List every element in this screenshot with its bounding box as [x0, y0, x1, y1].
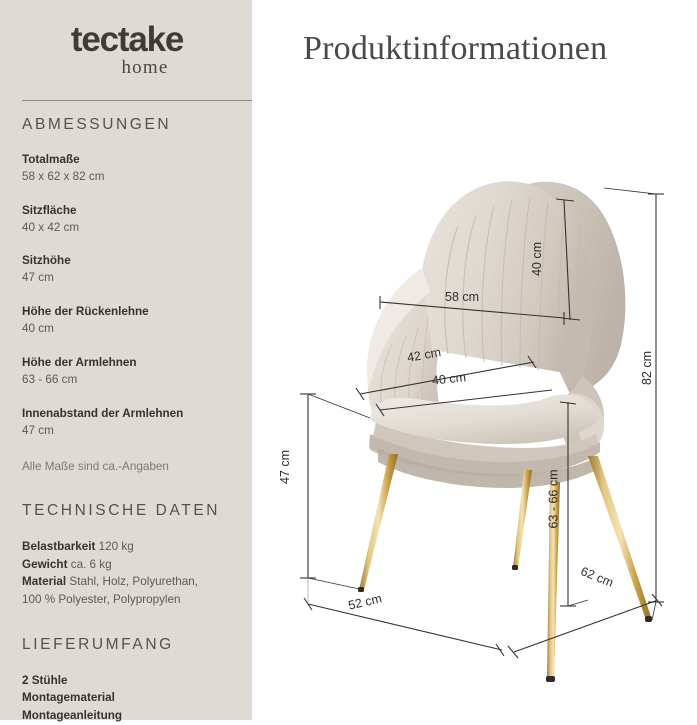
dimension-label-seat-height: 47 cm	[278, 450, 292, 484]
dimension-label: Totalmaße	[22, 152, 240, 169]
section-title-technische-daten: TECHNISCHE DATEN	[22, 502, 240, 521]
dimension-label: Höhe der Armlehnen	[22, 355, 240, 372]
list-item: Montagematerial	[22, 689, 240, 707]
dimension-label: Sitzfläche	[22, 203, 240, 220]
spec-row: Belastbarkeit 120 kg	[22, 538, 240, 556]
brand-sub: home	[58, 58, 232, 77]
measurement-note: Alle Maße sind ca.-Angaben	[22, 459, 240, 476]
dimension-label-seat-width: 58 cm	[445, 290, 479, 304]
dimension-value: 47 cm	[22, 423, 240, 440]
spec-label: Gewicht	[22, 558, 67, 571]
dimension-item: Totalmaße 58 x 62 x 82 cm	[22, 152, 240, 186]
brand-name: tectake	[22, 22, 232, 57]
section-title-abmessungen: ABMESSUNGEN	[22, 116, 240, 135]
list-item: 2 Stühle	[22, 672, 240, 690]
section-title-lieferumfang: LIEFERUMFANG	[22, 636, 240, 655]
dimension-value: 47 cm	[22, 270, 240, 287]
brand-logo: tectake home	[22, 22, 232, 77]
dimension-item: Höhe der Rückenlehne 40 cm	[22, 304, 240, 338]
dimension-label: Sitzhöhe	[22, 253, 240, 270]
dimension-label-armrest-height: 63 - 66 cm	[547, 469, 561, 528]
product-diagram: 40 cm 58 cm 42 cm 40 cm 47 cm 63 - 66 cm…	[252, 104, 697, 720]
page-title: Produktinformationen	[303, 30, 607, 68]
spec-value: 100 % Polyester, Polypropylen	[22, 593, 181, 606]
dimension-item: Höhe der Armlehnen 63 - 66 cm	[22, 355, 240, 389]
spec-label: Belastbarkeit	[22, 540, 95, 553]
chair-body	[367, 181, 626, 488]
spec-row: Gewicht ca. 6 kg	[22, 556, 240, 574]
sidebar-divider	[22, 100, 252, 101]
sidebar-panel: tectake home ABMESSUNGEN Totalmaße 58 x …	[0, 0, 252, 720]
section-technische-daten: TECHNISCHE DATEN Belastbarkeit 120 kg Ge…	[22, 502, 240, 609]
dimension-value: 40 x 42 cm	[22, 220, 240, 237]
dimension-label: Höhe der Rückenlehne	[22, 304, 240, 321]
spec-list: Belastbarkeit 120 kg Gewicht ca. 6 kg Ma…	[22, 538, 240, 609]
dimension-item: Sitzfläche 40 x 42 cm	[22, 203, 240, 237]
dimension-label: Innenabstand der Armlehnen	[22, 406, 240, 423]
list-item: Montageanleitung	[22, 707, 240, 725]
section-lieferumfang: LIEFERUMFANG 2 Stühle Montagematerial Mo…	[22, 636, 240, 725]
dimension-value: 40 cm	[22, 321, 240, 338]
spec-label: Material	[22, 575, 66, 588]
chair-illustration	[252, 104, 697, 720]
dimension-label-total-height: 82 cm	[640, 351, 654, 385]
spec-value: Stahl, Holz, Polyurethan,	[69, 575, 198, 588]
dimension-value: 63 - 66 cm	[22, 372, 240, 389]
sidebar-content: ABMESSUNGEN Totalmaße 58 x 62 x 82 cm Si…	[22, 116, 240, 725]
section-abmessungen: ABMESSUNGEN Totalmaße 58 x 62 x 82 cm Si…	[22, 116, 240, 476]
spec-value: 120 kg	[99, 540, 134, 553]
dimension-label-backrest-height: 40 cm	[530, 242, 544, 276]
spec-row-continued: 100 % Polyester, Polypropylen	[22, 591, 240, 609]
delivery-list: 2 Stühle Montagematerial Montageanleitun…	[22, 672, 240, 725]
spec-value: ca. 6 kg	[71, 558, 112, 571]
dimension-item: Sitzhöhe 47 cm	[22, 253, 240, 287]
dimension-value: 58 x 62 x 82 cm	[22, 169, 240, 186]
dimension-item: Innenabstand der Armlehnen 47 cm	[22, 406, 240, 440]
chair-legs	[358, 454, 652, 682]
spec-row: Material Stahl, Holz, Polyurethan,	[22, 573, 240, 591]
product-info-sheet: tectake home ABMESSUNGEN Totalmaße 58 x …	[0, 0, 697, 720]
